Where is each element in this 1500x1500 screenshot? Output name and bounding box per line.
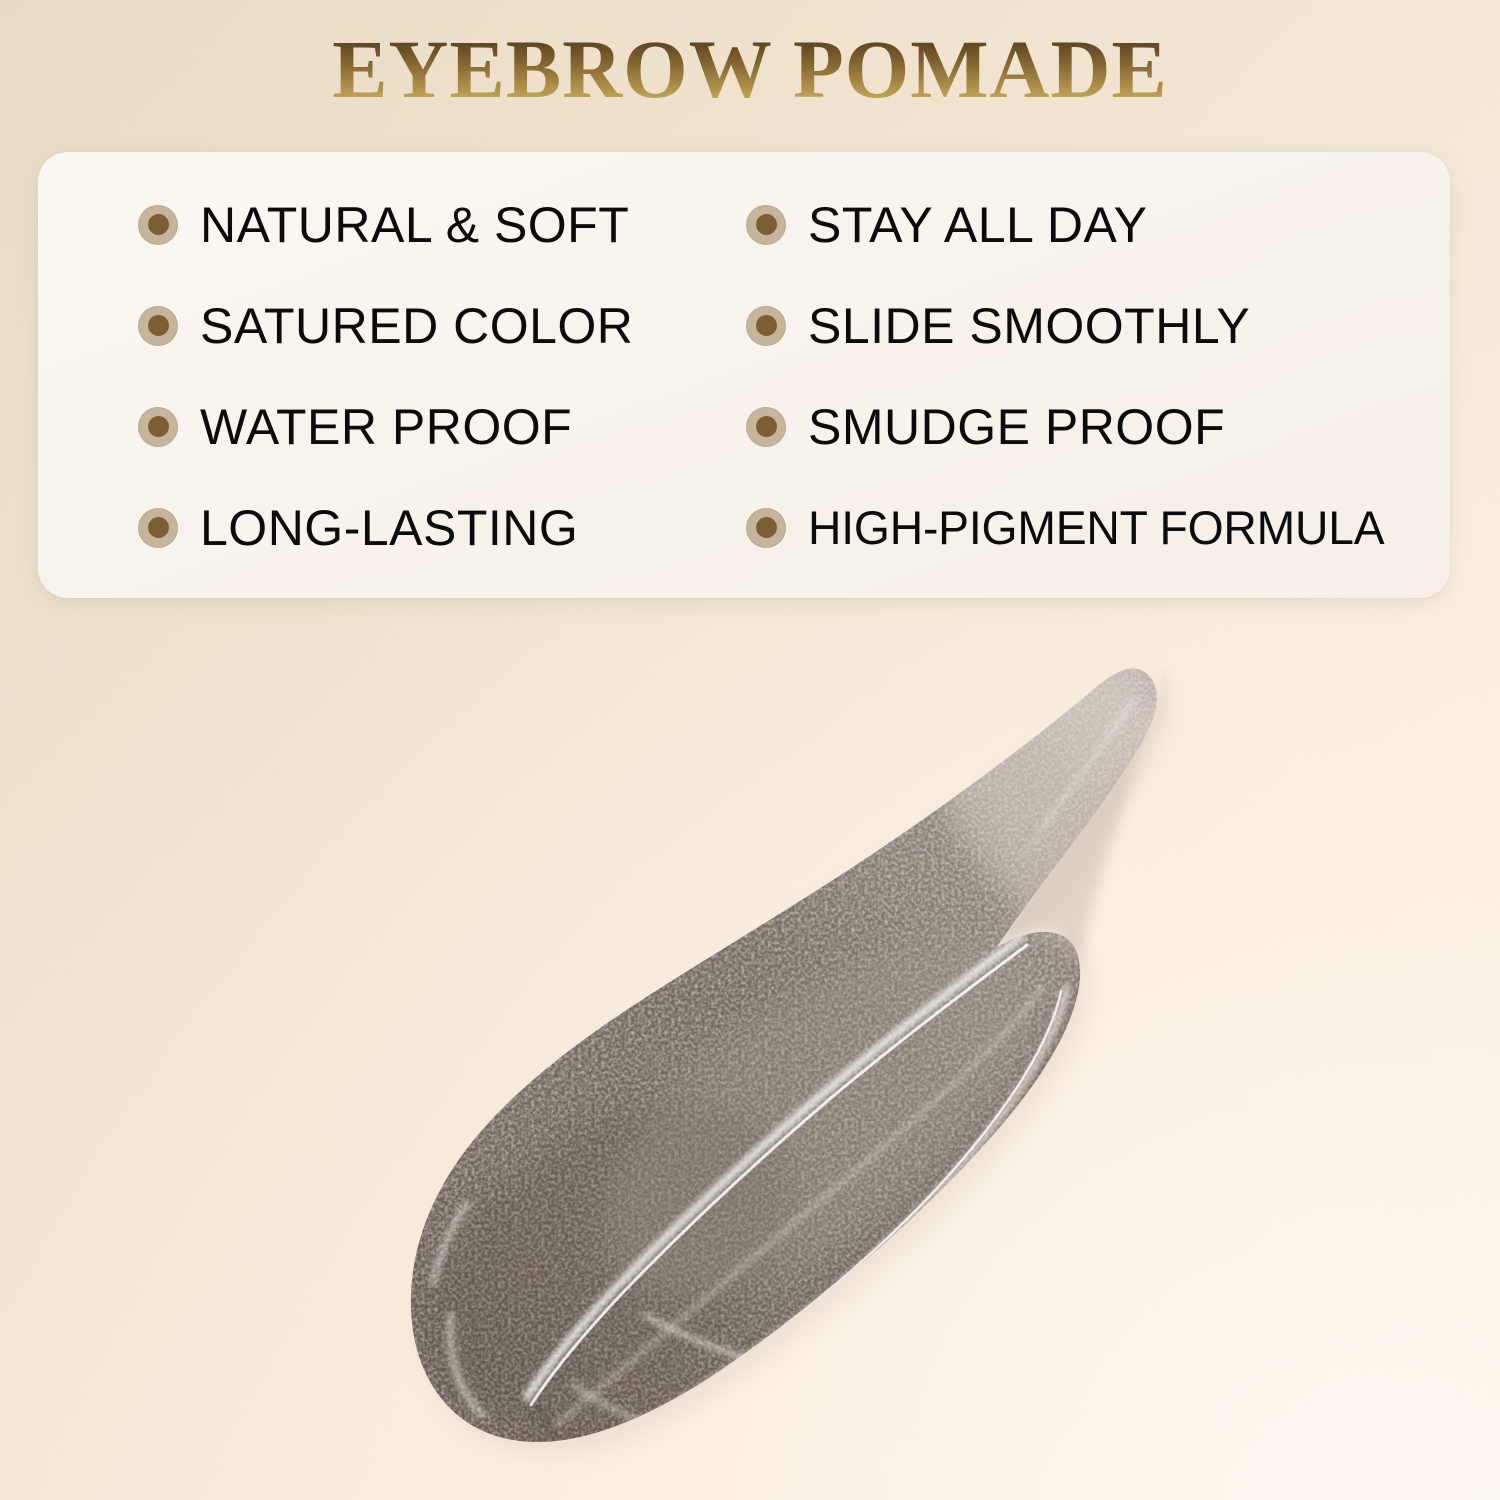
feature-item-natural-and-soft: NATURAL & SOFT xyxy=(138,174,738,275)
bullet-dot-icon xyxy=(746,306,786,346)
feature-item-water-proof: WATER PROOF xyxy=(138,376,738,477)
feature-item-stay-all-day: STAY ALL DAY xyxy=(738,174,1450,275)
feature-item-smudge-proof: SMUDGE PROOF xyxy=(738,376,1450,477)
feature-item-high-pigment-formula: HIGH-PIGMENT FORMULA xyxy=(738,477,1450,578)
feature-label: NATURAL & SOFT xyxy=(200,200,629,250)
feature-grid: NATURAL & SOFT STAY ALL DAY SATURED COLO… xyxy=(38,152,1450,598)
product-infographic-canvas: EYEBROW POMADE NATURAL & SOFT STAY ALL D… xyxy=(0,0,1500,1500)
feature-label: LONG-LASTING xyxy=(200,503,578,553)
feature-label: SATURED COLOR xyxy=(200,301,633,351)
product-swatch-image xyxy=(215,615,1315,1500)
bullet-dot-icon xyxy=(746,407,786,447)
feature-label: SMUDGE PROOF xyxy=(808,402,1225,452)
feature-item-slide-smoothly: SLIDE SMOOTHLY xyxy=(738,275,1450,376)
bullet-dot-icon xyxy=(746,508,786,548)
feature-label: WATER PROOF xyxy=(200,402,572,452)
bullet-dot-icon xyxy=(138,306,178,346)
feature-label: HIGH-PIGMENT FORMULA xyxy=(808,504,1385,551)
feature-item-satured-color: SATURED COLOR xyxy=(138,275,738,376)
header: EYEBROW POMADE xyxy=(0,26,1500,112)
feature-item-long-lasting: LONG-LASTING xyxy=(138,477,738,578)
bullet-dot-icon xyxy=(746,205,786,245)
feature-label: STAY ALL DAY xyxy=(808,200,1148,250)
swatch-body xyxy=(364,615,1288,1500)
bullet-dot-icon xyxy=(138,407,178,447)
feature-list-card: NATURAL & SOFT STAY ALL DAY SATURED COLO… xyxy=(38,152,1450,598)
bullet-dot-icon xyxy=(138,205,178,245)
feature-label: SLIDE SMOOTHLY xyxy=(808,301,1250,351)
bullet-dot-icon xyxy=(138,508,178,548)
page-title: EYEBROW POMADE xyxy=(332,26,1168,112)
